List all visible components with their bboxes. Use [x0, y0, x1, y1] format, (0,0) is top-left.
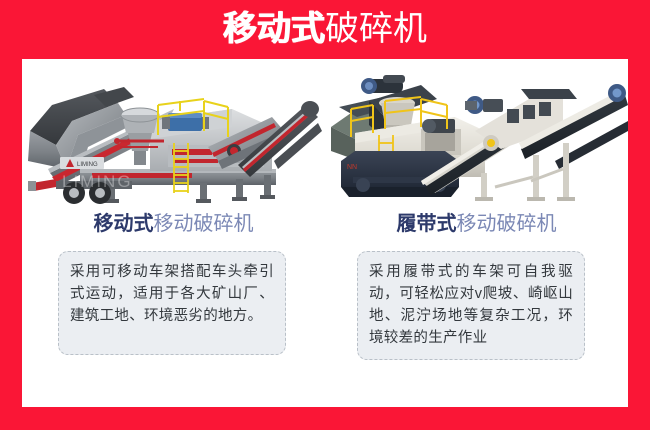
- wheel-mounted-caption-strong: 移动式: [94, 213, 154, 235]
- crawler-crusher-illustration: NN: [325, 65, 628, 205]
- crawler-caption-strong: 履带式: [397, 213, 457, 235]
- product-column-wheel-mounted: KX0C: [22, 59, 325, 407]
- poster-title-bar: 移动式破碎机: [0, 0, 650, 58]
- wheel-mounted-crusher-image: KX0C: [22, 65, 325, 205]
- page-title-part1: 移动式: [223, 10, 325, 48]
- content-card: KX0C: [22, 59, 628, 407]
- svg-text:NN: NN: [347, 164, 357, 171]
- page-title-part2: 破碎机: [325, 10, 427, 48]
- crawler-description: 采用履带式的车架可自我驱动，可轻松应对v爬坡、崎岖山地、泥泞场地等复杂工况，环境…: [357, 251, 585, 360]
- poster-root: 移动式破碎机: [0, 0, 650, 430]
- product-column-crawler: NN: [325, 59, 628, 407]
- wheel-mounted-crusher-illustration: KX0C: [22, 65, 325, 205]
- svg-text:LIMING: LIMING: [77, 162, 98, 168]
- crawler-caption-light: 移动破碎机: [457, 213, 557, 235]
- wheel-mounted-description: 采用可移动车架搭配车头牵引式运动，适用于各大矿山厂、建筑工地、环境恶劣的地方。: [58, 251, 286, 355]
- wheel-mounted-caption: 移动式移动破碎机: [22, 211, 325, 237]
- product-columns: KX0C: [22, 59, 628, 407]
- wheel-mounted-caption-light: 移动破碎机: [154, 213, 254, 235]
- page-title: 移动式破碎机: [223, 10, 427, 48]
- svg-text:LIMING: LIMING: [62, 172, 133, 191]
- crawler-caption: 履带式移动破碎机: [325, 211, 628, 237]
- crawler-crusher-image: NN: [325, 65, 628, 205]
